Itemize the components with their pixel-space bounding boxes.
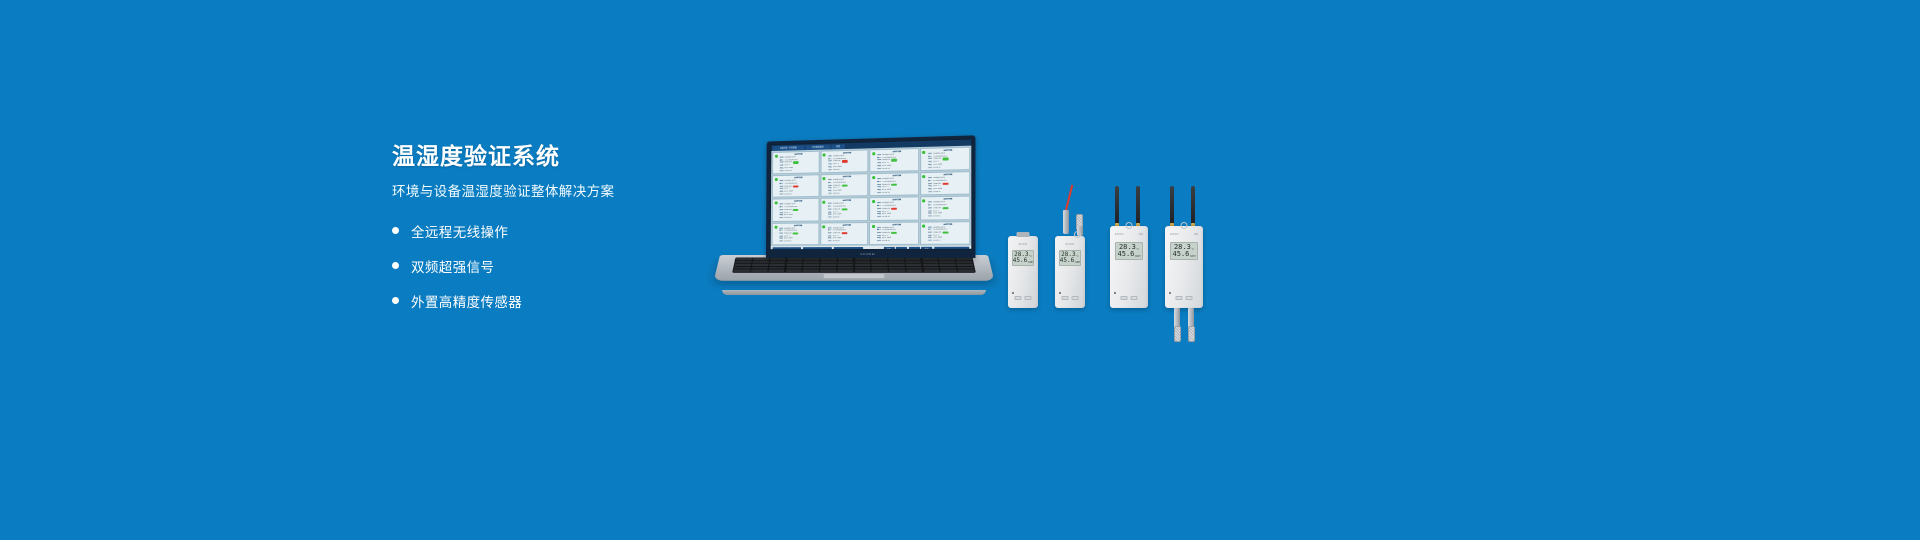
card-status-led-icon — [822, 177, 825, 180]
card-alarm-badge — [841, 160, 847, 163]
page-subtitle: 环境与设备温湿度验证整体解决方案 — [392, 183, 722, 201]
card-ok-badge — [793, 209, 799, 211]
device-card[interactable]: 监测终端设备温湿度记录仪编号TC2024081201状态在线正常温度28.3 ℃… — [820, 173, 868, 197]
device-brand: ENON — [1055, 243, 1085, 246]
card-status-led-icon — [872, 176, 875, 179]
card-field-value: 10:28:15 — [882, 167, 890, 170]
device-network-label: NB — [1194, 233, 1198, 236]
card-field-value: 10:28:15 — [882, 240, 890, 243]
card-field-key: 时间 — [828, 169, 832, 172]
vent-icon — [1017, 232, 1030, 237]
device-brand: ENON — [1170, 233, 1179, 236]
card-alarm-badge — [891, 208, 897, 210]
humidity-unit: %RH — [1075, 261, 1081, 264]
device-button-left[interactable] — [1121, 296, 1128, 300]
hanging-ring-icon — [1074, 231, 1081, 238]
card-status-led-icon — [823, 154, 826, 157]
card-field: 时间10:28:15 — [780, 193, 818, 196]
device-wireless-transmitter-probe: ENON NB 28.3 ℃ 45.6 %RH — [1165, 226, 1203, 308]
card-status-led-icon — [822, 201, 825, 204]
device-brand-row: ENON NB — [1165, 233, 1203, 236]
device-card[interactable]: 监测终端设备温湿度记录仪编号TC2024081201状态在线正常温度28.3 ℃… — [772, 222, 819, 245]
card-status-led-icon — [922, 224, 925, 227]
laptop-brand-label: HUAWEI — [766, 250, 976, 258]
device-button-left[interactable] — [1015, 296, 1022, 300]
card-field-key: 时间 — [928, 240, 932, 243]
card-status-led-icon — [872, 152, 875, 155]
humidity-unit: %RH — [1135, 255, 1141, 258]
status-led-icon — [1012, 292, 1014, 294]
card-field-key: 时间 — [827, 240, 831, 243]
device-card[interactable]: 监测终端设备温湿度记录仪编号TC2024081201状态在线正常温度28.3 ℃… — [920, 221, 971, 245]
feature-list: 全远程无线操作 双频超强信号 外置高精度传感器 — [392, 218, 722, 313]
card-ok-badge — [841, 208, 847, 210]
laptop-front-edge — [722, 290, 986, 295]
humidity-unit: %RH — [1028, 261, 1034, 264]
card-field: 时间10:28:15 — [828, 216, 867, 219]
card-field: 时间10:28:15 — [928, 215, 969, 218]
card-field-value: 10:28:15 — [882, 216, 890, 219]
device-button-right[interactable] — [1025, 296, 1032, 300]
card-field: 时间10:28:15 — [828, 192, 867, 195]
laptop-screen: 设备列表 · 实时数据 历史数据查询 报警 监测终端设备温湿度记录仪编号TC20… — [770, 138, 973, 250]
card-ok-badge — [942, 158, 948, 161]
card-status-led-icon — [822, 225, 825, 228]
bullet-dot-icon — [392, 262, 399, 269]
card-ok-badge — [942, 207, 948, 210]
laptop-base — [714, 255, 995, 281]
card-field-value: 10:28:15 — [784, 193, 791, 196]
card-field: 时间10:28:15 — [877, 191, 916, 194]
laptop-trackpad — [823, 273, 886, 278]
device-card[interactable]: 监测终端设备温湿度记录仪编号TC2024081201状态在线正常温度28.3 ℃… — [820, 149, 868, 173]
humidity-value: 45.6 — [1173, 251, 1190, 258]
card-field-value: 10:28:15 — [832, 240, 840, 243]
hanging-ring-icon — [1181, 222, 1188, 229]
card-field: 时间10:28:15 — [827, 240, 866, 243]
device-card[interactable]: 监测终端设备温湿度记录仪编号TC2024081201状态在线正常温度28.3 ℃… — [772, 198, 819, 221]
card-field-key: 时间 — [928, 215, 932, 218]
card-status-led-icon — [922, 175, 925, 178]
humidity-value: 45.6 — [1060, 258, 1074, 264]
card-field: 时间10:28:15 — [828, 168, 867, 172]
card-ok-badge — [891, 183, 897, 186]
card-field-key: 时间 — [877, 168, 881, 171]
status-led-icon — [1169, 292, 1171, 294]
card-field: 时间10:28:15 — [877, 240, 917, 243]
card-field: 时间10:28:15 — [877, 167, 916, 171]
device-brand-row: ENON NB — [1110, 233, 1148, 236]
card-field-key: 时间 — [828, 216, 832, 219]
device-button-right[interactable] — [1186, 296, 1193, 300]
card-alarm-badge — [942, 182, 948, 185]
lcd-display: 28.3 ℃ 45.6 %RH — [1170, 242, 1198, 260]
probe-cable — [1065, 185, 1073, 211]
status-led-icon — [1114, 292, 1116, 294]
card-field-key: 时间 — [779, 217, 783, 220]
card-status-led-icon — [922, 151, 925, 154]
card-field-value: 10:28:15 — [832, 216, 840, 219]
probe-sensor-head-right — [1188, 326, 1195, 342]
card-status-led-icon — [774, 178, 777, 181]
bullet-dot-icon — [392, 227, 399, 234]
card-field-value: 10:28:15 — [933, 215, 941, 218]
hanging-ring-icon — [1126, 222, 1133, 229]
card-field: 时间10:28:15 — [779, 217, 817, 220]
card-field-key: 时间 — [780, 193, 784, 196]
card-field: 时间10:28:15 — [877, 216, 917, 219]
hero-copy: 温湿度验证系统 环境与设备温湿度验证整体解决方案 全远程无线操作 双频超强信号 … — [392, 142, 722, 323]
card-status-led-icon — [872, 200, 875, 203]
lcd-display: 28.3 ℃ 45.6 %RH — [1012, 250, 1034, 266]
device-card[interactable]: 监测终端设备温湿度记录仪编号TC2024081201状态在线正常温度28.3 ℃… — [820, 198, 868, 222]
card-field-key: 时间 — [928, 166, 932, 169]
card-field: 时间10:28:15 — [928, 190, 968, 193]
card-field: 时间10:28:15 — [780, 169, 818, 172]
page-title: 温湿度验证系统 — [392, 142, 722, 170]
list-item: 双频超强信号 — [392, 253, 722, 278]
feature-label: 全远程无线操作 — [411, 221, 508, 241]
device-card-grid: 监测终端设备温湿度记录仪编号TC2024081201状态在线正常温度28.3 ℃… — [771, 146, 972, 247]
device-wireless-transmitter: ENON NB 28.3 ℃ 45.6 %RH — [1110, 226, 1148, 308]
card-field-key: 时间 — [779, 241, 783, 244]
card-field-value: 10:28:15 — [882, 192, 890, 195]
antenna-right-icon — [1136, 186, 1140, 224]
card-field-value: 10:28:15 — [784, 170, 791, 173]
card-field-value: 10:28:15 — [933, 191, 941, 194]
device-network-label: NB — [1139, 233, 1143, 236]
device-button-right[interactable] — [1072, 296, 1079, 300]
device-buttons — [1176, 296, 1193, 300]
probe-sensor-head-left — [1174, 326, 1181, 342]
device-brand: ENON — [1115, 233, 1124, 236]
device-card[interactable]: 监测终端设备温湿度记录仪编号TC2024081201状态在线正常温度28.3 ℃… — [920, 147, 971, 172]
humidity-unit: %RH — [1190, 255, 1196, 258]
antenna-left-icon — [1170, 186, 1174, 224]
card-ok-badge — [793, 161, 799, 163]
device-card[interactable]: 监测终端设备温湿度记录仪编号TC2024081201状态在线正常温度28.3 ℃… — [920, 171, 971, 195]
device-button-left[interactable] — [1176, 296, 1183, 300]
card-field-value: 10:28:15 — [784, 241, 791, 244]
device-buttons — [1015, 296, 1032, 300]
laptop-keyboard — [732, 257, 976, 272]
device-card[interactable]: 监测终端设备温湿度记录仪编号TC2024081201状态在线正常温度28.3 ℃… — [920, 196, 971, 220]
card-field-key: 时间 — [828, 192, 832, 195]
card-status-led-icon — [774, 202, 777, 205]
lcd-display: 28.3 ℃ 45.6 %RH — [1115, 242, 1143, 260]
device-card[interactable]: 监测终端设备温湿度记录仪编号TC2024081201状态在线正常温度28.3 ℃… — [772, 151, 819, 175]
device-card[interactable]: 监测终端设备温湿度记录仪编号TC2024081201状态在线正常温度28.3 ℃… — [869, 221, 919, 245]
sensor-device-group: ENON 28.3 ℃ 45.6 %RH — [1000, 178, 1220, 308]
card-status-led-icon — [775, 155, 778, 158]
device-buttons — [1121, 296, 1138, 300]
card-field-value: 10:28:15 — [784, 217, 791, 220]
device-brand: ENON — [1008, 243, 1038, 246]
card-status-led-icon — [922, 200, 925, 203]
card-status-led-icon — [872, 225, 875, 228]
device-card[interactable]: 监测终端设备温湿度记录仪编号TC2024081201状态在线正常温度28.3 ℃… — [869, 197, 918, 221]
card-field: 时间10:28:15 — [779, 240, 817, 243]
device-button-left[interactable] — [1062, 296, 1069, 300]
card-field-key: 时间 — [780, 170, 784, 173]
humidity-value: 45.6 — [1118, 251, 1135, 258]
list-item: 外置高精度传感器 — [392, 288, 722, 313]
list-item: 全远程无线操作 — [392, 218, 722, 243]
feature-label: 双频超强信号 — [411, 256, 494, 276]
card-field-value: 10:28:15 — [933, 240, 941, 243]
card-field-key: 时间 — [877, 192, 881, 195]
card-field-value: 10:28:15 — [833, 192, 841, 195]
device-card[interactable]: 监测终端设备温湿度记录仪编号TC2024081201状态在线正常温度28.3 ℃… — [869, 148, 918, 172]
card-ok-badge — [841, 184, 847, 186]
feature-label: 外置高精度传感器 — [411, 291, 522, 311]
bullet-dot-icon — [392, 297, 399, 304]
card-field-key: 时间 — [877, 216, 881, 219]
card-alarm-badge — [793, 185, 799, 187]
device-card[interactable]: 监测终端设备温湿度记录仪编号TC2024081201状态在线正常温度28.3 ℃… — [772, 174, 819, 198]
card-field-key: 时间 — [877, 240, 881, 243]
hero-banner: 温湿度验证系统 环境与设备温湿度验证整体解决方案 全远程无线操作 双频超强信号 … — [0, 0, 1920, 540]
lcd-display: 28.3 ℃ 45.6 %RH — [1059, 250, 1081, 266]
device-card[interactable]: 监测终端设备温湿度记录仪编号TC2024081201状态在线正常温度28.3 ℃… — [869, 172, 918, 196]
card-field-value: 10:28:15 — [833, 168, 841, 171]
humidity-value: 45.6 — [1013, 258, 1027, 264]
laptop-lid: 设备列表 · 实时数据 历史数据查询 报警 监测终端设备温湿度记录仪编号TC20… — [766, 135, 976, 258]
device-datalogger: ENON 28.3 ℃ 45.6 %RH — [1008, 236, 1038, 308]
card-ok-badge — [891, 159, 897, 162]
status-led-icon — [1059, 292, 1061, 294]
device-card[interactable]: 监测终端设备温湿度记录仪编号TC2024081201状态在线正常温度28.3 ℃… — [820, 222, 868, 245]
card-field-key: 时间 — [928, 191, 932, 194]
card-field: 时间10:28:15 — [928, 166, 968, 170]
card-field-value: 10:28:15 — [933, 166, 941, 169]
probe-connector — [1063, 210, 1069, 234]
antenna-left-icon — [1115, 186, 1119, 224]
card-field: 时间10:28:15 — [928, 240, 969, 243]
device-button-right[interactable] — [1131, 296, 1138, 300]
device-buttons — [1062, 296, 1079, 300]
antenna-right-icon — [1191, 186, 1195, 224]
card-status-led-icon — [774, 225, 777, 228]
device-external-probe-logger: ENON 28.3 ℃ 45.6 %RH — [1055, 236, 1085, 308]
laptop-illustration: 设备列表 · 实时数据 历史数据查询 报警 监测终端设备温湿度记录仪编号TC20… — [720, 138, 988, 298]
